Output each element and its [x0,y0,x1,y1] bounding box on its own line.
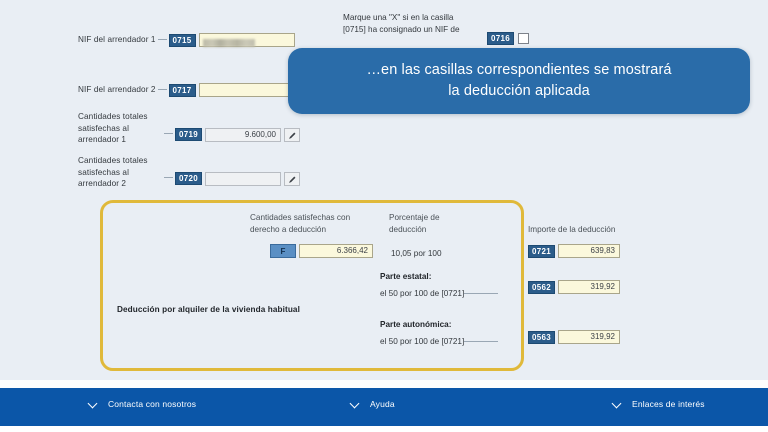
box-badge-0717: 0717 [169,84,196,97]
label-underline [158,89,167,90]
input-0562[interactable]: 319,92 [558,280,620,294]
input-value-0720 [206,173,280,185]
callout-banner: …en las casillas correspondientes se mos… [288,48,750,114]
part-heading-estatal: Parte estatal: [380,272,431,281]
field-row-cantidades-arrendador-1: Cantidades totales satisfechas al arrend… [78,111,300,146]
box-badge-0719: 0719 [175,128,202,141]
input-0719[interactable]: 9.600,00 [205,128,281,142]
box-badge-0720: 0720 [175,172,202,185]
input-value-0719: 9.600,00 [206,129,280,141]
footer-item-enlaces[interactable]: Enlaces de interés [612,398,705,409]
field-row-0563: 0563 319,92 [528,330,620,344]
leader-line [464,293,498,294]
box-badge-0716: 0716 [487,32,514,45]
pencil-icon-0719[interactable] [284,128,300,142]
column-header-percentage: Porcentaje de deducción [389,212,479,235]
column-header-amounts: Cantidades satisfechas con derecho a ded… [250,212,368,235]
input-value-0562: 319,92 [559,281,619,293]
footer-item-contacta[interactable]: Contacta con nosotros [88,398,196,409]
field-label-nif-arrendador-1: NIF del arrendador 1 [78,34,156,46]
input-value-0563: 319,92 [559,331,619,343]
part-description-text-estatal: el 50 por 100 de [0721] [380,289,464,298]
input-value-amount-deduction: 6.366,42 [300,245,372,257]
input-amount-deduction[interactable]: 6.366,42 [299,244,373,258]
field-row-0716: 0716 [487,32,529,45]
input-0563[interactable]: 319,92 [558,330,620,344]
page-bottom-edge [0,428,768,432]
f-button[interactable]: F [270,244,296,258]
pencil-icon-0720[interactable] [284,172,300,186]
input-0720[interactable] [205,172,281,186]
callout-line-2: la deducción aplicada [448,83,590,99]
footer-item-ayuda[interactable]: Ayuda [350,398,395,409]
part-heading-autonomica: Parte autonómica: [380,320,451,329]
field-label-cantidades-arrendador-1: Cantidades totales satisfechas al arrend… [78,111,162,146]
redacted-value-0715 [203,39,255,47]
box-badge-0721: 0721 [528,245,555,258]
field-row-0721: 0721 639,83 [528,244,620,258]
box-badge-0562: 0562 [528,281,555,294]
field-label-nif-arrendador-2: NIF del arrendador 2 [78,84,156,96]
input-value-0717 [200,84,294,96]
note-line-1: Marque una "X" si en la casilla [343,12,493,24]
input-0721[interactable]: 639,83 [558,244,620,258]
label-underline [164,177,173,178]
checkbox-0716[interactable] [518,33,529,44]
input-0715[interactable] [199,33,295,47]
deduction-title: Deducción por alquiler de la vivienda ha… [117,305,300,314]
note-nif-extranjero: Marque una "X" si en la casilla [0715] h… [343,12,493,35]
content-footer-gap [0,380,768,388]
box-badge-0715: 0715 [169,34,196,47]
screen-root: NIF del arrendador 1 0715 NIF del arrend… [0,0,768,432]
chevron-down-icon [350,398,361,409]
footer-label-contacta: Contacta con nosotros [108,399,196,409]
site-footer: Contacta con nosotros Ayuda Enlaces de i… [0,388,768,426]
callout-line-1: …en las casillas correspondientes se mos… [366,62,671,78]
label-underline [164,133,173,134]
field-row-cantidades-arrendador-2: Cantidades totales satisfechas al arrend… [78,155,300,190]
field-row-0562: 0562 319,92 [528,280,620,294]
column-header-import: Importe de la deducción [528,224,648,236]
note-line-2: [0715] ha consignado un NIF de [343,24,493,36]
tax-form-area: NIF del arrendador 1 0715 NIF del arrend… [0,0,768,380]
input-0717[interactable] [199,83,295,97]
part-description-autonomica: el 50 por 100 de [0721] [380,337,498,346]
footer-label-ayuda: Ayuda [370,399,395,409]
field-label-cantidades-arrendador-2: Cantidades totales satisfechas al arrend… [78,155,162,190]
percentage-value: 10,05 por 100 [391,249,442,258]
part-description-text-autonomica: el 50 por 100 de [0721] [380,337,464,346]
footer-label-enlaces: Enlaces de interés [632,399,705,409]
callout-text: …en las casillas correspondientes se mos… [346,60,691,102]
field-row-nif-arrendador-2: NIF del arrendador 2 0717 [78,83,295,97]
chevron-down-icon [88,398,99,409]
input-value-0721: 639,83 [559,245,619,257]
box-badge-0563: 0563 [528,331,555,344]
chevron-down-icon [612,398,623,409]
amount-with-deduction-right: F 6.366,42 [270,244,373,258]
leader-line [464,341,498,342]
field-row-nif-arrendador-1: NIF del arrendador 1 0715 [78,33,295,47]
part-description-estatal: el 50 por 100 de [0721] [380,289,498,298]
label-underline [158,39,167,40]
